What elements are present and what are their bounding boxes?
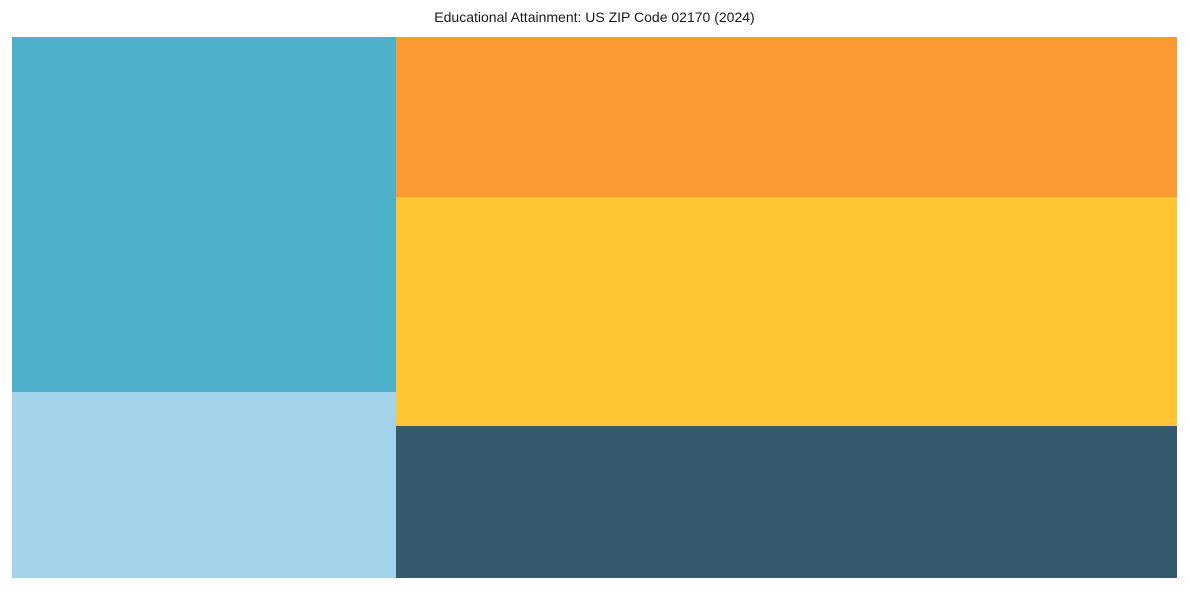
treemap-tile-graduate-or-professional-degree[interactable]: Graduate or Professional Degree [396, 37, 1177, 197]
treemap-plot-area: Bachelor's Degree Some College, No Degre… [12, 37, 1177, 578]
treemap-tile-bachelors-degree[interactable]: Bachelor's Degree [12, 37, 396, 392]
treemap-tile-high-school-graduate[interactable]: High School Graduate [396, 197, 1177, 426]
chart-title: Educational Attainment: US ZIP Code 0217… [0, 8, 1189, 26]
treemap-figure: Educational Attainment: US ZIP Code 0217… [0, 0, 1189, 590]
treemap-tile-less-than-high-school[interactable]: Less than High School [396, 426, 1177, 578]
treemap-column-right: Graduate or Professional Degree High Sch… [396, 37, 1177, 578]
treemap-column-left: Bachelor's Degree Some College, No Degre… [12, 37, 396, 578]
treemap-tile-some-college-no-degree[interactable]: Some College, No Degree [12, 392, 396, 578]
